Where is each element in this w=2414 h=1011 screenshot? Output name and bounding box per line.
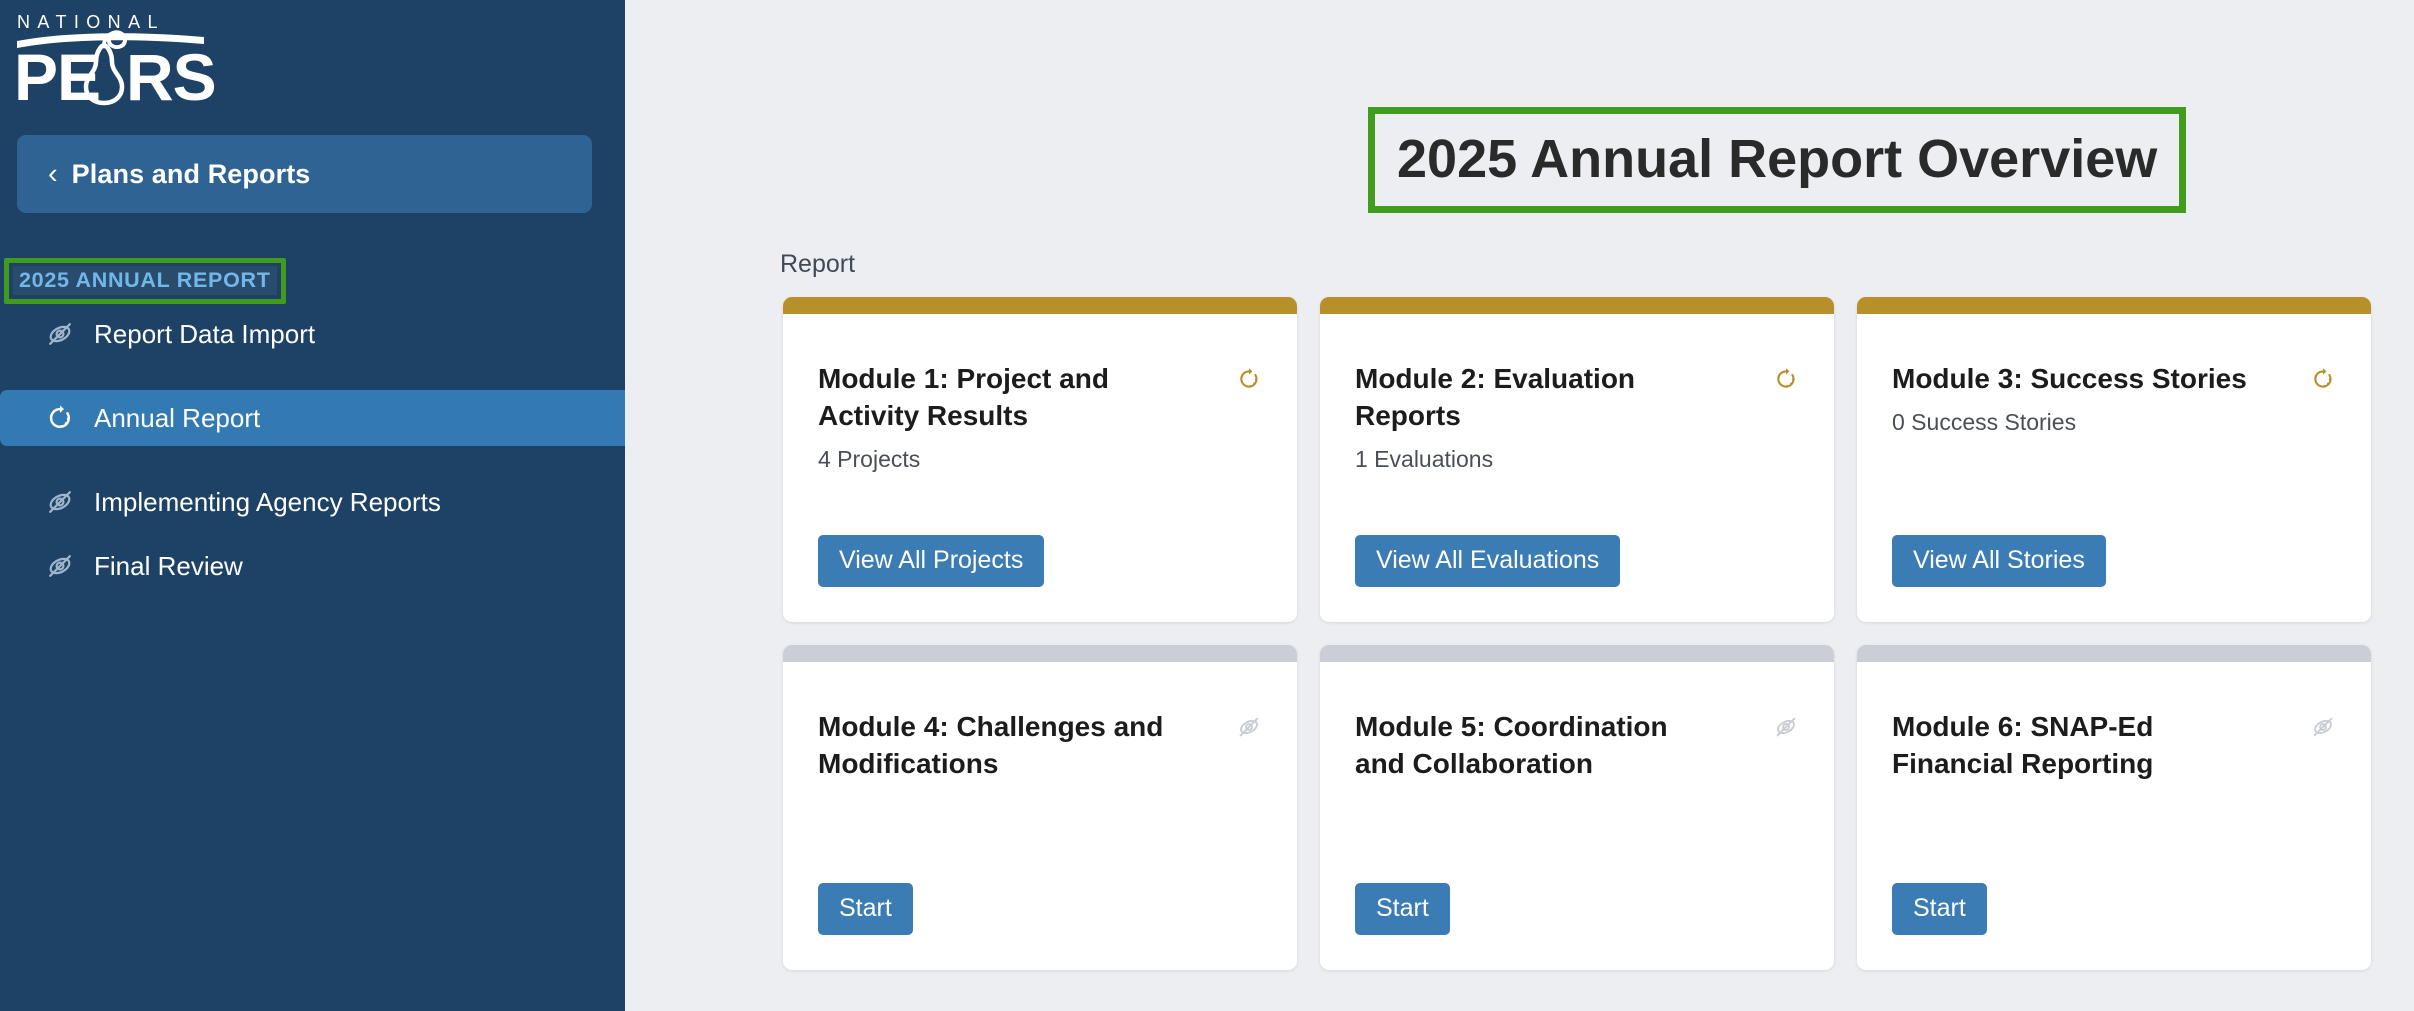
card-title: Module 3: Success Stories xyxy=(1892,361,2247,398)
card-header: Module 3: Success Stories xyxy=(1892,361,2336,398)
sidebar-item-annual-report[interactable]: Annual Report xyxy=(0,390,625,446)
card-action-button[interactable]: View All Stories xyxy=(1892,535,2106,587)
section-label-annotation: 2025 ANNUAL REPORT xyxy=(4,258,286,304)
page-title-annotation: 2025 Annual Report Overview xyxy=(1368,107,2186,213)
eye-slash-icon xyxy=(45,487,75,517)
sidebar-section-label[interactable]: 2025 ANNUAL REPORT xyxy=(13,266,277,295)
card-action-button[interactable]: Start xyxy=(1892,883,1987,935)
card-status-bar xyxy=(1857,297,2371,314)
card-status-bar xyxy=(783,297,1297,314)
card-title: Module 5: Coordination and Collaboration xyxy=(1355,709,1725,783)
card-title: Module 2: Evaluation Reports xyxy=(1355,361,1725,435)
card-status-bar xyxy=(1857,645,2371,662)
circular-arrow-icon xyxy=(45,403,75,433)
back-to-plans-and-reports-button[interactable]: ‹ Plans and Reports xyxy=(17,135,592,213)
eye-slash-icon xyxy=(45,319,75,349)
card-status-bar xyxy=(1320,297,1834,314)
module-card[interactable]: Module 1: Project and Activity Results 4… xyxy=(783,297,1297,622)
circular-arrow-icon xyxy=(1236,366,1262,392)
sidebar: NATIONAL PE RS ‹ Plans and Reports 2025 … xyxy=(0,0,625,1011)
svg-text:RS: RS xyxy=(126,40,216,110)
card-status-bar xyxy=(1320,645,1834,662)
main-content: 2025 Annual Report Overview Report Modul… xyxy=(625,0,2414,1011)
module-card[interactable]: Module 3: Success Stories 0 Success Stor… xyxy=(1857,297,2371,622)
module-card-grid: Module 1: Project and Activity Results 4… xyxy=(783,297,2414,970)
sidebar-item-label: Final Review xyxy=(94,551,243,582)
card-action-button[interactable]: Start xyxy=(1355,883,1450,935)
back-button-label: Plans and Reports xyxy=(72,159,311,190)
sidebar-item-report-data-import[interactable]: Report Data Import xyxy=(0,306,625,362)
card-count: 1 Evaluations xyxy=(1355,446,1799,473)
sidebar-item-final-review[interactable]: Final Review xyxy=(0,538,625,594)
eye-slash-icon xyxy=(1236,714,1262,740)
card-status-bar xyxy=(783,645,1297,662)
eye-slash-icon xyxy=(45,551,75,581)
sidebar-item-implementing-agency-reports[interactable]: Implementing Agency Reports xyxy=(0,474,625,530)
eye-slash-icon xyxy=(2310,714,2336,740)
card-title: Module 1: Project and Activity Results xyxy=(818,361,1188,435)
svg-text:NATIONAL: NATIONAL xyxy=(17,12,165,32)
sidebar-item-label: Annual Report xyxy=(94,403,260,434)
card-header: Module 2: Evaluation Reports xyxy=(1355,361,1799,435)
svg-text:PE: PE xyxy=(14,40,100,110)
card-action-button[interactable]: Start xyxy=(818,883,913,935)
circular-arrow-icon xyxy=(2310,366,2336,392)
card-header: Module 1: Project and Activity Results xyxy=(818,361,1262,435)
sidebar-item-label: Implementing Agency Reports xyxy=(94,487,441,518)
module-card[interactable]: Module 5: Coordination and Collaboration… xyxy=(1320,645,1834,970)
module-card[interactable]: Module 4: Challenges and Modifications S… xyxy=(783,645,1297,970)
national-pears-logo[interactable]: NATIONAL PE RS xyxy=(14,8,224,110)
card-header: Module 6: SNAP-Ed Financial Reporting xyxy=(1892,709,2336,783)
card-action-button[interactable]: View All Projects xyxy=(818,535,1044,587)
card-count: 4 Projects xyxy=(818,446,1262,473)
section-heading: Report xyxy=(780,250,855,279)
page-title: 2025 Annual Report Overview xyxy=(1375,114,2179,206)
module-card[interactable]: Module 6: SNAP-Ed Financial Reporting St… xyxy=(1857,645,2371,970)
eye-slash-icon xyxy=(1773,714,1799,740)
sidebar-item-label: Report Data Import xyxy=(94,319,315,350)
circular-arrow-icon xyxy=(1773,366,1799,392)
chevron-left-icon: ‹ xyxy=(48,160,58,189)
card-header: Module 4: Challenges and Modifications xyxy=(818,709,1262,783)
card-title: Module 4: Challenges and Modifications xyxy=(818,709,1188,783)
card-title: Module 6: SNAP-Ed Financial Reporting xyxy=(1892,709,2262,783)
card-header: Module 5: Coordination and Collaboration xyxy=(1355,709,1799,783)
card-action-button[interactable]: View All Evaluations xyxy=(1355,535,1620,587)
module-card[interactable]: Module 2: Evaluation Reports 1 Evaluatio… xyxy=(1320,297,1834,622)
card-count: 0 Success Stories xyxy=(1892,409,2336,436)
